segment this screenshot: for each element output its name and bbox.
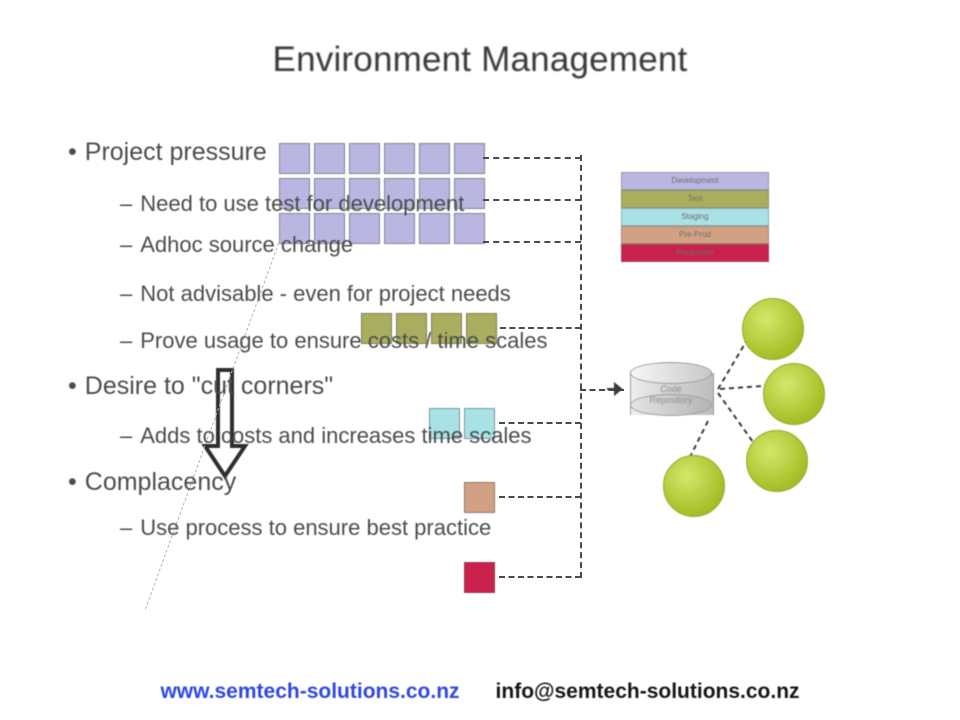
bullet-item-7: •Complacency bbox=[68, 468, 236, 497]
bullet-marker: • bbox=[68, 468, 77, 497]
bullet-marker: – bbox=[120, 423, 132, 449]
bullet-text: Desire to "cut corners" bbox=[85, 372, 333, 400]
bullet-item-2: –Adhoc source change bbox=[120, 232, 353, 258]
bullet-item-4: –Prove usage to ensure costs / time scal… bbox=[120, 328, 547, 354]
bullet-text: Complacency bbox=[85, 468, 236, 496]
bullet-marker: – bbox=[120, 191, 132, 217]
website-link[interactable]: www.semtech-solutions.co.nz bbox=[160, 680, 459, 704]
bullet-item-3: –Not advisable - even for project needs bbox=[120, 281, 511, 307]
bullet-text: Need to use test for development bbox=[140, 191, 464, 216]
bullet-item-5: •Desire to "cut corners" bbox=[68, 372, 333, 401]
bullet-marker: • bbox=[68, 138, 77, 167]
slide-footer: www.semtech-solutions.co.nz info@semtech… bbox=[0, 680, 960, 704]
bullet-marker: – bbox=[120, 328, 132, 354]
email-link[interactable]: info@semtech-solutions.co.nz bbox=[496, 680, 800, 704]
bullet-marker: – bbox=[120, 232, 132, 258]
bullet-item-0: •Project pressure bbox=[68, 138, 267, 167]
bullet-text: Adds to costs and increases time scales bbox=[140, 423, 531, 448]
bullet-text: Adhoc source change bbox=[140, 232, 353, 257]
bullet-text: Not advisable - even for project needs bbox=[140, 281, 511, 306]
bullet-item-6: –Adds to costs and increases time scales bbox=[120, 423, 532, 449]
bullet-marker: – bbox=[120, 281, 132, 307]
bullet-item-1: –Need to use test for development bbox=[120, 191, 464, 217]
bullet-marker: – bbox=[120, 515, 132, 541]
bullet-item-8: –Use process to ensure best practice bbox=[120, 515, 491, 541]
bullet-text: Project pressure bbox=[85, 138, 267, 166]
bullet-text: Use process to ensure best practice bbox=[140, 515, 491, 540]
bullet-marker: • bbox=[68, 372, 77, 401]
slide-canvas: Environment Management Code Repository bbox=[0, 0, 960, 720]
bullet-list: •Project pressure–Need to use test for d… bbox=[0, 0, 960, 660]
bullet-text: Prove usage to ensure costs / time scale… bbox=[140, 328, 547, 353]
